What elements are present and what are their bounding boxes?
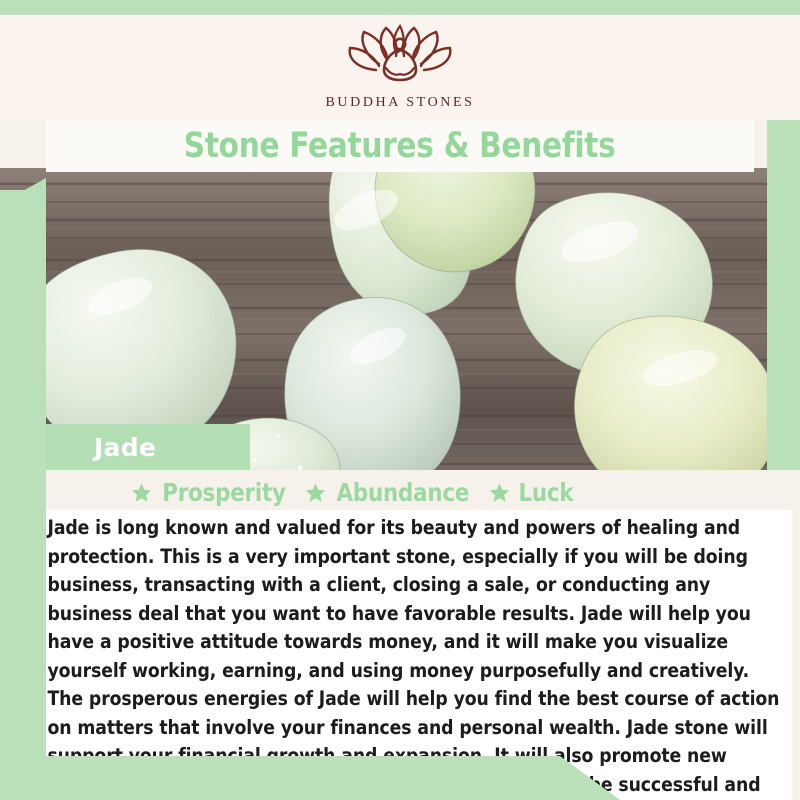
top-green-band bbox=[0, 0, 800, 15]
benefits-list: Prosperity Abundance Luck bbox=[46, 478, 800, 507]
benefit-label: Luck bbox=[518, 478, 573, 507]
benefit-item-luck: Luck bbox=[489, 478, 575, 507]
left-green-band bbox=[0, 190, 46, 770]
star-icon bbox=[489, 482, 510, 503]
lotus-meditation-icon bbox=[346, 24, 454, 90]
page-title: Stone Features & Benefits bbox=[184, 126, 616, 166]
brand-header: BUDDHA STONES bbox=[0, 15, 800, 120]
brand-name: BUDDHA STONES bbox=[325, 95, 474, 111]
benefit-label: Abundance bbox=[337, 478, 470, 507]
benefit-item-prosperity: Prosperity bbox=[131, 478, 289, 507]
bottom-green-band bbox=[0, 756, 620, 800]
stone-infographic-card: BUDDHA STONES Stone Features & Benefits … bbox=[0, 0, 800, 800]
section-title-band: Stone Features & Benefits bbox=[46, 120, 754, 172]
content-area: Prosperity Abundance Luck Jade bbox=[46, 470, 800, 800]
stone-name-banner: Jade bbox=[46, 424, 250, 470]
benefit-item-abundance: Abundance bbox=[305, 478, 473, 507]
star-icon bbox=[131, 482, 152, 503]
star-icon bbox=[305, 482, 326, 503]
stone-name: Jade bbox=[94, 433, 156, 462]
benefit-label: Prosperity bbox=[163, 478, 287, 507]
